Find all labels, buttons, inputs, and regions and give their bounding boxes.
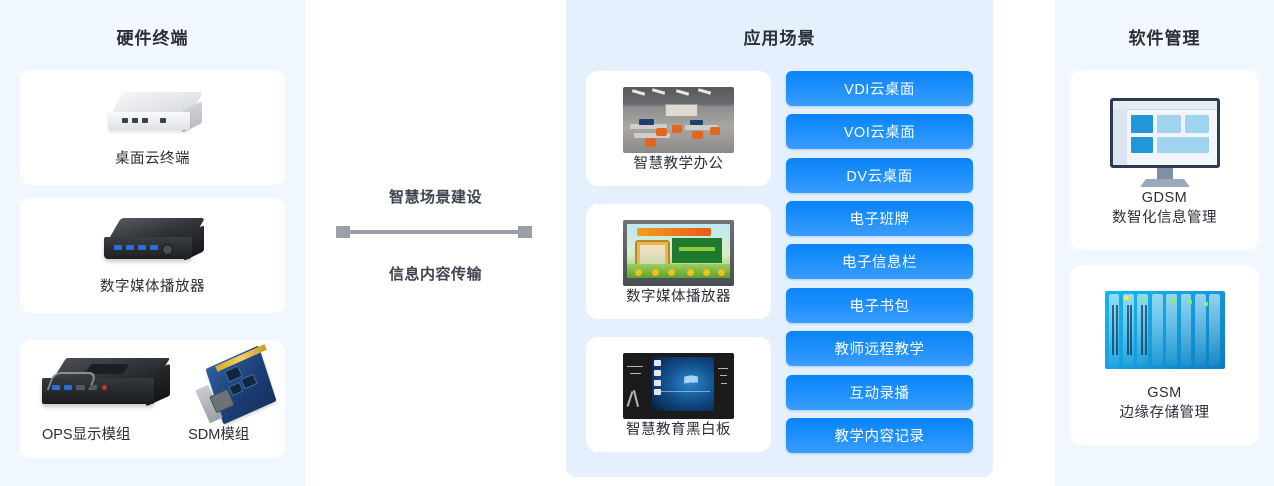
digital-media-player-icon [104,218,204,270]
interactive-flat-panel-icon [623,220,734,286]
card-interactive-flat-panel[interactable]: 数字媒体播放器 [586,204,771,319]
connector-zone: 智慧场景建设 信息内容传输 [305,0,566,486]
card-ops-sdm-modules[interactable]: OPS显示模组 SDM模组 [20,340,285,458]
card-label: 数字媒体播放器 [20,278,285,297]
sdm-module-icon [198,354,274,424]
button-electronic-class-card[interactable]: 电子班牌 [786,201,973,236]
software-management-panel: 软件管理 GDSM [1055,0,1274,486]
button-electronic-info-board[interactable]: 电子信息栏 [786,244,973,279]
left-column-title: 硬件终端 [0,24,305,49]
card-smart-classroom[interactable]: 智慧教学办公 [586,71,771,186]
card-label: 桌面云终端 [20,150,285,169]
card-smart-blackboard[interactable]: 智慧教育黑白板 [586,337,771,452]
card-label: GDSM 数智化信息管理 [1070,188,1259,228]
card-label: OPS显示模组 [20,423,153,444]
button-teaching-content-record[interactable]: 教学内容记录 [786,418,973,453]
button-interactive-recording[interactable]: 互动录播 [786,375,973,410]
card-label: 智慧教学办公 [586,155,771,174]
card-label: 智慧教育黑白板 [586,421,771,440]
card-label: 数字媒体播放器 [586,288,771,307]
right-column-title: 软件管理 [1055,24,1274,49]
button-dv-cloud-desktop[interactable]: DV云桌面 [786,158,973,193]
desktop-cloud-terminal-icon [108,92,200,138]
application-scenario-panel: 应用场景 智慧教学办公 [566,0,993,477]
connector-bottom-label: 信息内容传输 [305,263,566,284]
button-teacher-remote-teaching[interactable]: 教师远程教学 [786,331,973,366]
card-gdsm[interactable]: GDSM 数智化信息管理 [1070,70,1259,250]
card-desktop-cloud-terminal[interactable]: 桌面云终端 [20,70,285,185]
monitor-dashboard-icon [1110,98,1220,190]
connector-top-label: 智慧场景建设 [305,186,566,207]
double-arrow-icon [336,225,532,239]
card-label-line2: 边缘存储管理 [1070,403,1259,423]
card-label-row: OPS显示模组 SDM模组 [20,423,285,444]
button-vdi-cloud-desktop[interactable]: VDI云桌面 [786,71,973,106]
card-label-line2: 数智化信息管理 [1070,208,1259,228]
middle-column-title: 应用场景 [566,24,993,49]
button-electronic-schoolbag[interactable]: 电子书包 [786,288,973,323]
card-label: SDM模组 [153,423,286,444]
card-label-line1: GDSM [1070,188,1259,208]
smart-blackboard-icon [623,353,734,419]
diagram-canvas: 硬件终端 桌面云终端 [0,0,1274,486]
ops-display-module-icon [42,358,170,420]
card-gsm[interactable]: GSM 边缘存储管理 [1070,265,1259,445]
card-label: GSM 边缘存储管理 [1070,383,1259,423]
card-digital-media-player[interactable]: 数字媒体播放器 [20,198,285,313]
button-voi-cloud-desktop[interactable]: VOI云桌面 [786,114,973,149]
hardware-terminal-panel: 硬件终端 桌面云终端 [0,0,305,486]
card-label-line1: GSM [1070,383,1259,403]
server-storage-icon [1105,291,1225,369]
smart-classroom-icon [623,87,734,153]
